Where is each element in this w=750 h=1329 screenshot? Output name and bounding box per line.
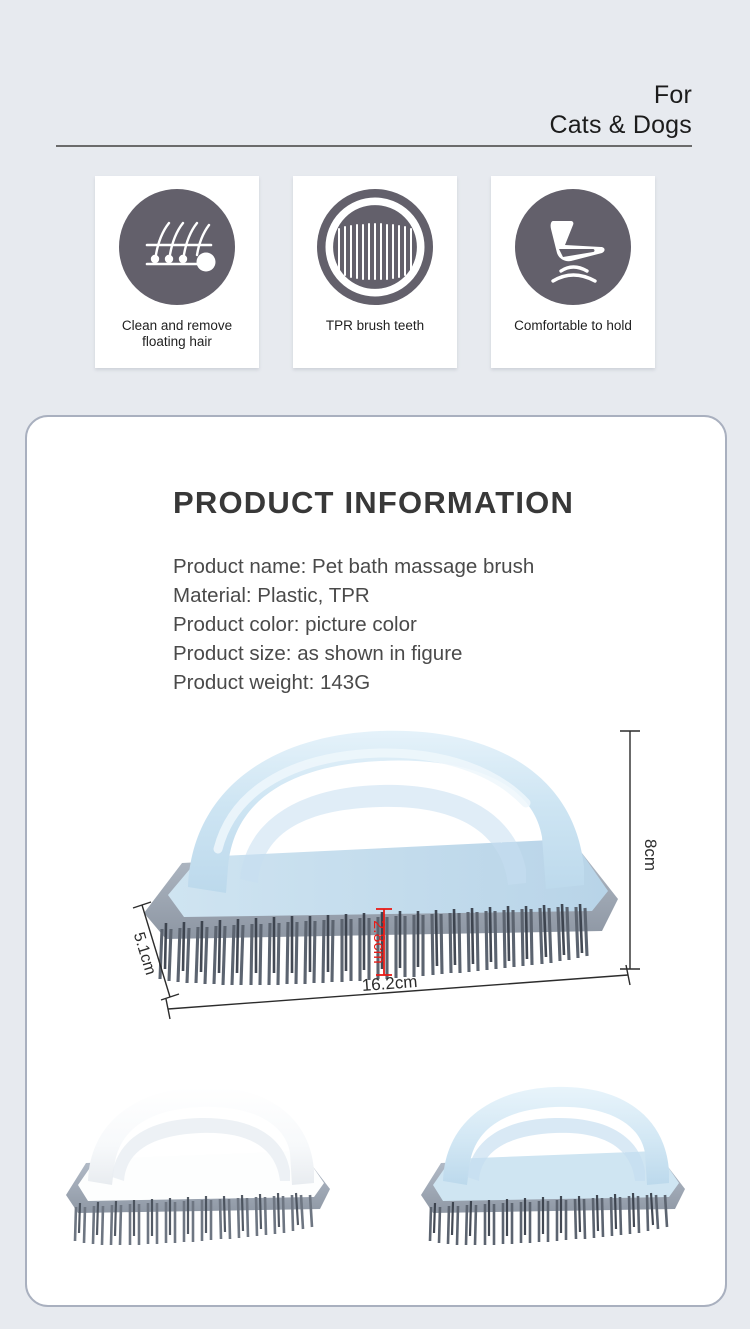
feature-card-tpr-teeth[interactable]: TPR brush teeth [293, 176, 457, 368]
spec-item-name: Product name: Pet bath massage brush [173, 552, 534, 581]
brush-variant-white[interactable] [52, 1077, 352, 1267]
spec-item-color: Product color: picture color [173, 610, 534, 639]
header-title-line1: For [549, 80, 692, 110]
feature-caption-line2: floating hair [142, 334, 212, 349]
brush-variant-white-svg [52, 1077, 352, 1267]
hero-product-photo: 8cm 16.2cm 5.1cm 2.8cm [122, 717, 662, 1027]
feature-card-clean-hair[interactable]: Clean and remove floating hair [95, 176, 259, 368]
hero-product-photo-svg: 8cm 16.2cm 5.1cm 2.8cm [122, 717, 662, 1027]
dimension-height-label: 8cm [641, 839, 660, 871]
feature-caption-clean-hair: Clean and remove floating hair [116, 318, 238, 350]
feature-caption-line1: Clean and remove [122, 318, 232, 333]
spec-item-material: Material: Plastic, TPR [173, 581, 534, 610]
hair-removal-icon-svg [119, 189, 235, 305]
hair-removal-icon [119, 189, 235, 305]
page-title: PRODUCT INFORMATION [173, 485, 574, 521]
dimension-depth-label: 5.1cm [130, 930, 159, 977]
spec-item-weight: Product weight: 143G [173, 668, 534, 697]
tpr-bristles-icon [317, 189, 433, 305]
feature-caption-line1: TPR brush teeth [326, 318, 424, 333]
page-header: For Cats & Dogs [0, 0, 750, 150]
brush-variant-blue-svg [407, 1077, 707, 1267]
feature-caption-line1: Comfortable to hold [514, 318, 632, 333]
brush-top-plate [168, 839, 608, 917]
variant-photo-list [52, 1077, 707, 1277]
feature-card-comfort-grip[interactable]: Comfortable to hold [491, 176, 655, 368]
header-divider [56, 145, 692, 147]
tpr-bristles-icon-svg [317, 189, 433, 305]
feature-card-list: Clean and remove floating hair [0, 176, 750, 368]
dimension-bristle-height-label: 2.8cm [370, 920, 387, 964]
comfort-grip-icon [515, 189, 631, 305]
header-title: For Cats & Dogs [549, 80, 692, 140]
brush-variant-blue[interactable] [407, 1077, 707, 1267]
header-title-line2: Cats & Dogs [549, 110, 692, 140]
comfort-grip-icon-svg [515, 189, 631, 305]
dimension-height [620, 731, 640, 969]
spec-list: Product name: Pet bath massage brush Mat… [173, 552, 534, 697]
feature-caption-comfort-grip: Comfortable to hold [508, 318, 638, 334]
product-information-panel: PRODUCT INFORMATION Product name: Pet ba… [25, 415, 727, 1307]
feature-caption-tpr-teeth: TPR brush teeth [320, 318, 430, 334]
spec-item-size: Product size: as shown in figure [173, 639, 534, 668]
